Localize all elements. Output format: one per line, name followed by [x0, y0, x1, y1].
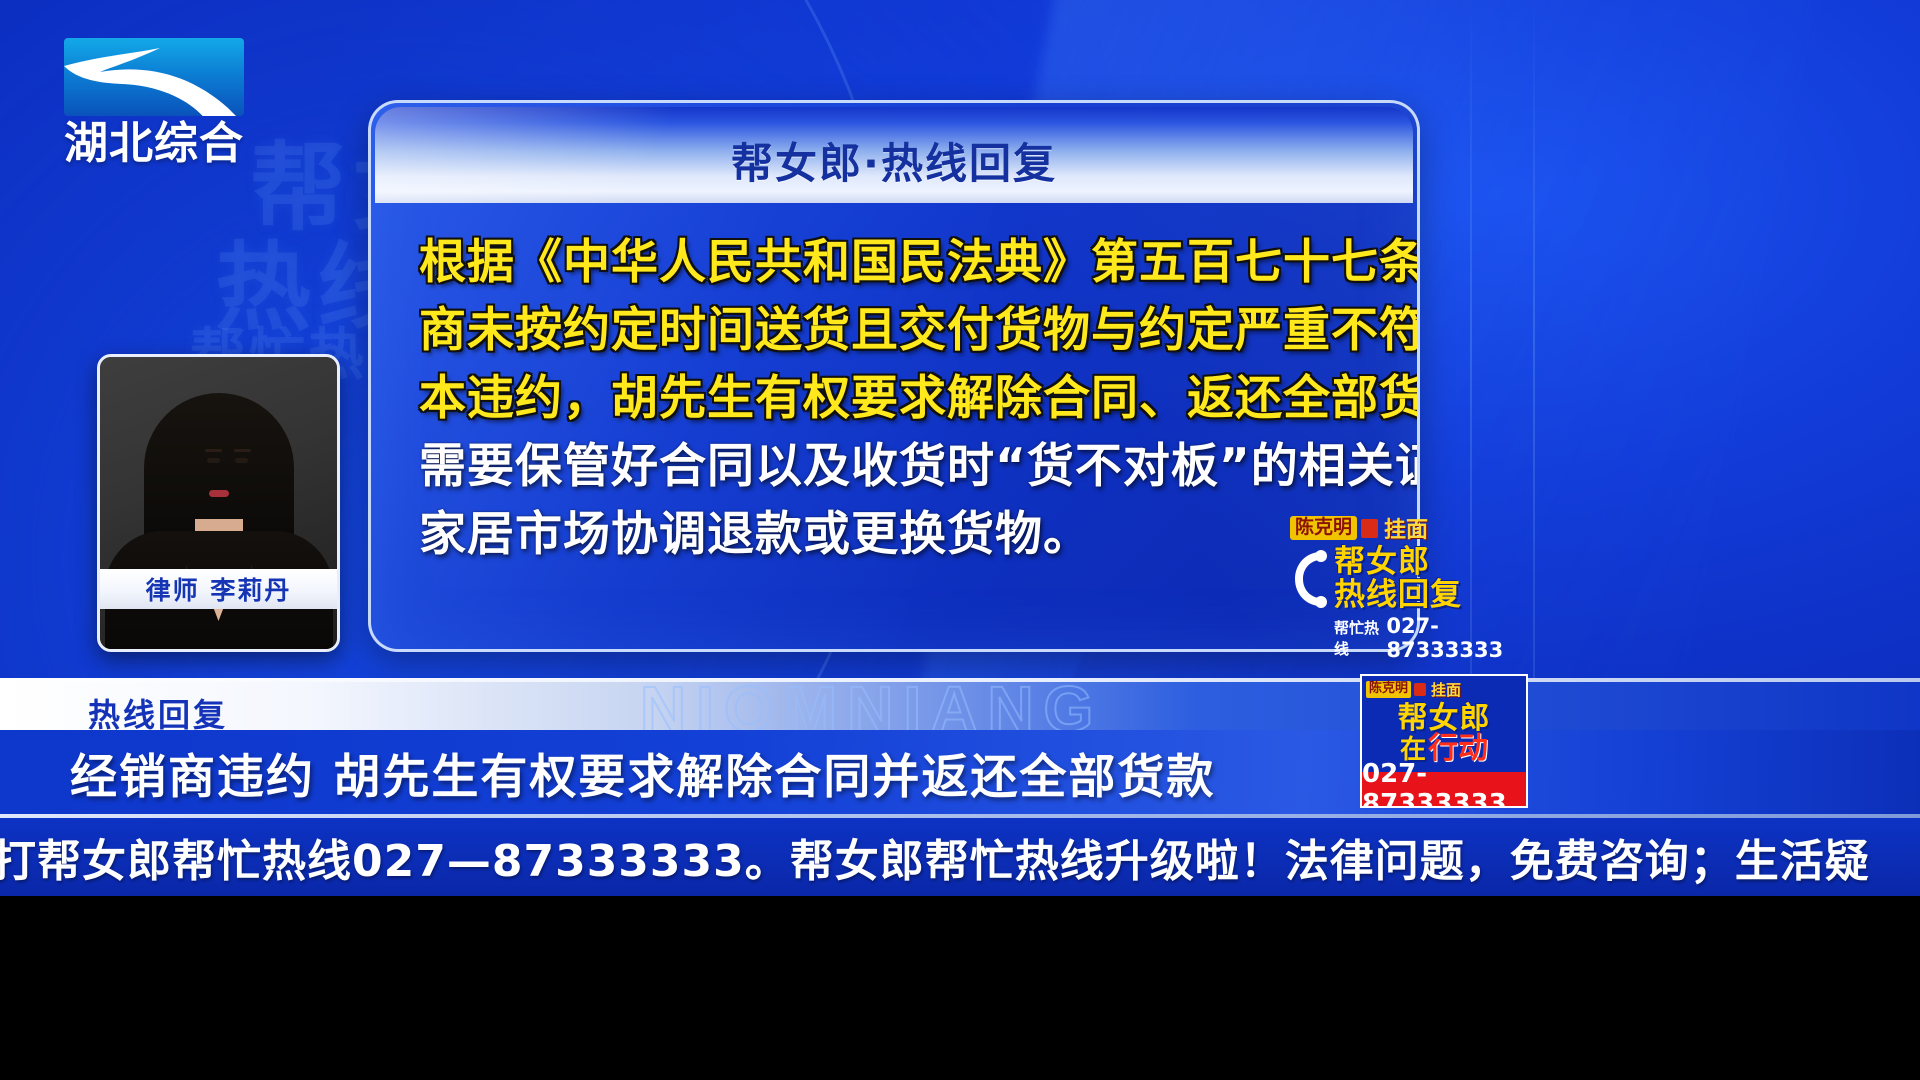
brand-square-icon: [1361, 519, 1378, 538]
portrait-lips: [209, 490, 229, 497]
brand-chip: 陈克明: [1290, 516, 1357, 540]
body-line: 商未按约定时间送货且交付货物与约定严重不符，已构成根: [419, 297, 1377, 365]
program-badge: 陈克明 挂面 帮女郎 在 行动 027-87333333: [1360, 674, 1528, 808]
card-title: 帮女郎·热线回复: [731, 130, 1057, 203]
lower-third-headline: 经销商违约 胡先生有权要求解除合同并返还全部货款: [70, 738, 1215, 807]
hotline-tag: 帮忙热线: [1334, 617, 1381, 659]
badge-phone: 027-87333333: [1362, 772, 1526, 806]
lower-third-headline-row: 经销商违约 胡先生有权要求解除合同并返还全部货款: [0, 730, 1920, 814]
hotline-line1: 帮女郎: [1334, 546, 1520, 579]
telephone-handset-icon: [1290, 548, 1330, 614]
lower-third: NIOMNIANG 热线回复 经销商违约 胡先生有权要求解除合同并返还全部货款: [0, 678, 1920, 818]
body-line: 家居市场协调退款或更换货物。: [419, 501, 1377, 569]
badge-brand-product: 挂面: [1431, 679, 1461, 700]
portrait-face: [173, 413, 265, 533]
portrait-eye-left: [207, 458, 220, 463]
card-header-bar: 帮女郎·热线回复: [375, 107, 1413, 203]
hotline-main-block: 帮女郎 热线回复 帮忙热线 027-87333333: [1290, 546, 1520, 662]
brand-product: 挂面: [1384, 512, 1428, 544]
hotline-phone-row: 帮忙热线 027-87333333: [1334, 614, 1520, 662]
card-body: 根据《中华人民共和国民法典》第五百七十七条，经销 商未按约定时间送货且交付货物与…: [371, 203, 1417, 569]
lawyer-portrait: 律师 李莉丹: [97, 354, 340, 652]
hotline-line2: 热线回复: [1334, 579, 1520, 612]
portrait-eyebrow-right: [234, 449, 251, 452]
body-line: 本违约，胡先生有权要求解除合同、返还全部货款。胡先生: [419, 365, 1377, 433]
badge-brand-chip: 陈克明: [1366, 681, 1411, 697]
channel-logo: 湖北综合: [64, 38, 244, 166]
body-line: 根据《中华人民共和国民法典》第五百七十七条，经销: [419, 229, 1377, 297]
hotline-brand-row: 陈克明 挂面: [1290, 512, 1520, 544]
body-line: 需要保管好合同以及收货时“货不对板”的相关证据，要求: [419, 433, 1377, 501]
badge-square-icon: [1414, 683, 1426, 696]
hotline-reply-card: 帮女郎·热线回复 根据《中华人民共和国民法典》第五百七十七条，经销 商未按约定时…: [368, 100, 1420, 652]
badge-brand-row: 陈克明 挂面: [1362, 676, 1526, 700]
portrait-caption: 律师 李莉丹: [100, 569, 337, 609]
badge-line1: 帮女郎: [1362, 704, 1526, 734]
lower-third-category-tag: 热线回复: [88, 690, 228, 730]
ticker-text: 打帮女郎帮忙热线027—87333333。帮女郎帮忙热线升级啦！法律问题，免费咨…: [0, 825, 1870, 889]
portrait-eyebrow-left: [205, 449, 222, 452]
lower-third-tag-row: NIOMNIANG 热线回复: [0, 682, 1920, 730]
hubei-swoosh-icon: [64, 38, 244, 116]
letterbox-bar: [0, 896, 1920, 1080]
channel-logo-text: 湖北综合: [64, 122, 244, 166]
portrait-eye-right: [235, 458, 248, 463]
lower-third-watermark: NIOMNIANG: [640, 682, 1103, 730]
hotline-watermark: 陈克明 挂面 帮女郎 热线回复 帮忙热线 027-87333333: [1290, 512, 1520, 660]
hotline-phone: 027-87333333: [1386, 614, 1520, 662]
news-ticker: 打帮女郎帮忙热线027—87333333。帮女郎帮忙热线升级啦！法律问题，免费咨…: [0, 818, 1920, 896]
